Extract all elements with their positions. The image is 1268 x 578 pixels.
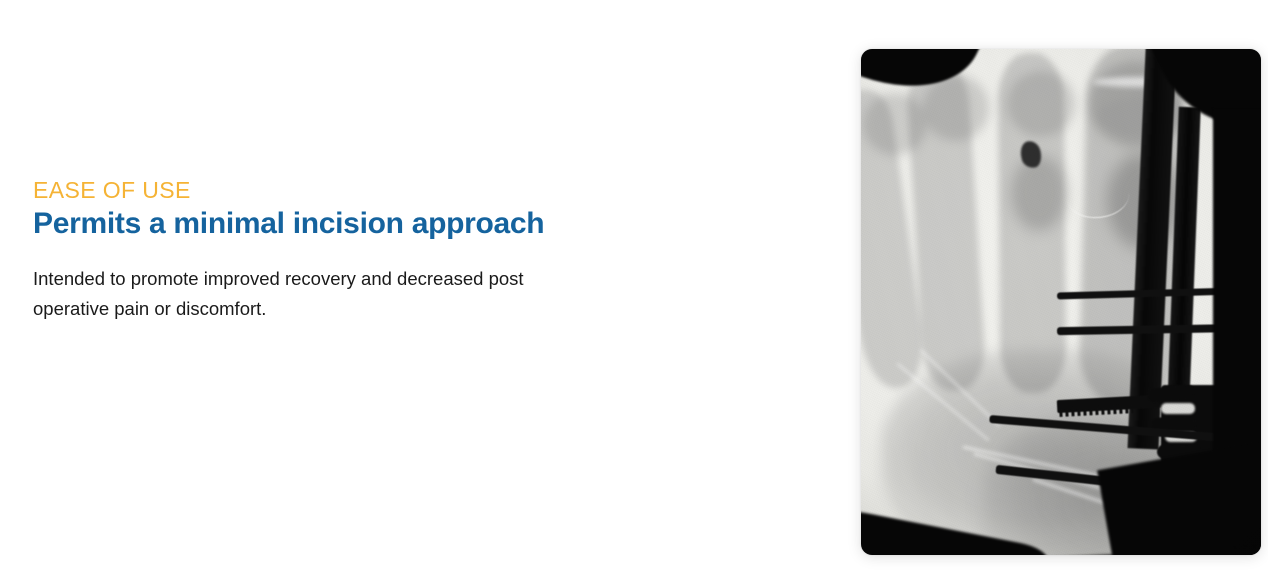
film-grain-overlay bbox=[861, 49, 1261, 555]
xray-image bbox=[861, 49, 1261, 555]
eyebrow-label: EASE OF USE bbox=[33, 176, 633, 204]
body-paragraph: Intended to promote improved recovery an… bbox=[33, 264, 598, 324]
xray-image-frame bbox=[861, 49, 1261, 555]
slide-root: EASE OF USE Permits a minimal incision a… bbox=[0, 0, 1268, 578]
page-title: Permits a minimal incision approach bbox=[33, 205, 633, 243]
text-column: EASE OF USE Permits a minimal incision a… bbox=[33, 176, 633, 324]
